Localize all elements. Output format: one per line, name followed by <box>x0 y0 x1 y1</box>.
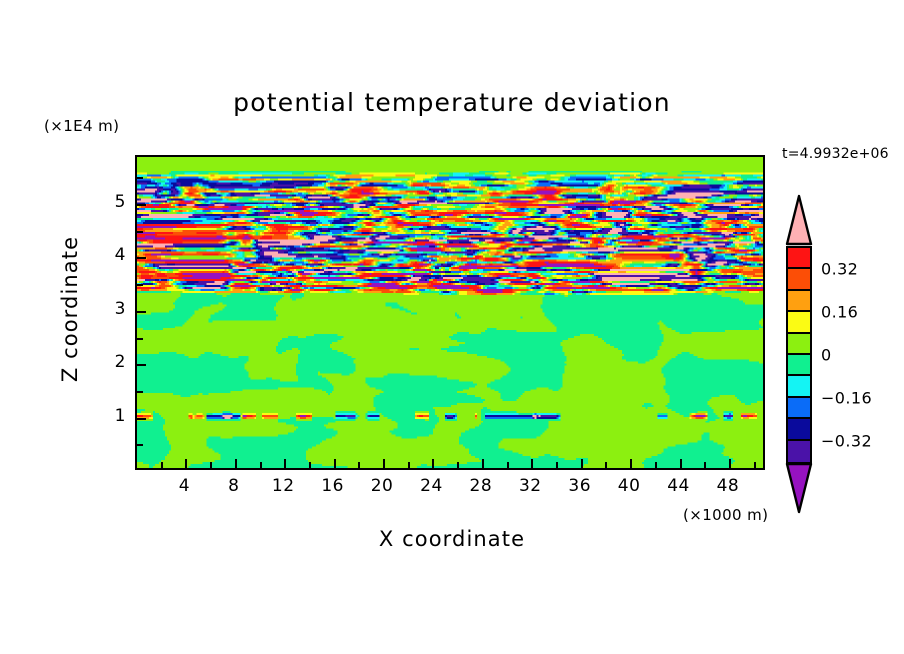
plot-area <box>135 155 765 470</box>
x-axis-minor-tick <box>210 462 212 468</box>
y-axis-minor-tick <box>137 338 143 340</box>
x-axis-tick-label: 36 <box>558 476 602 496</box>
x-axis-tick-label: 48 <box>706 476 750 496</box>
x-axis-minor-tick <box>704 462 706 468</box>
y-axis-tick-label: 2 <box>86 352 126 372</box>
colorbar-bands <box>786 246 812 464</box>
colorbar-band <box>788 355 810 376</box>
y-axis-tick <box>137 364 146 366</box>
x-axis-tick <box>235 459 237 468</box>
y-axis-minor-tick <box>137 444 143 446</box>
y-axis-tick-label: 4 <box>86 245 126 265</box>
x-axis-tick-label: 24 <box>409 476 453 496</box>
colorbar: 0.320.160−0.16−0.32 <box>783 196 817 514</box>
x-axis-minor-tick <box>260 462 262 468</box>
contour-field-canvas <box>137 157 763 468</box>
x-axis-minor-tick <box>507 462 509 468</box>
colorbar-bottom-cap-icon <box>786 462 812 514</box>
y-axis-tick <box>137 204 146 206</box>
x-axis-minor-tick <box>309 462 311 468</box>
y-axis-tick <box>137 257 146 259</box>
x-axis-tick-label: 16 <box>311 476 355 496</box>
colorbar-band <box>788 248 810 269</box>
y-axis-tick <box>137 311 146 313</box>
x-axis-tick-label: 12 <box>261 476 305 496</box>
x-axis-minor-tick <box>457 462 459 468</box>
x-axis-tick-label: 44 <box>657 476 701 496</box>
contour-plot-figure: potential temperature deviation (×1E4 m)… <box>0 0 904 654</box>
colorbar-band <box>788 312 810 333</box>
y-axis-minor-tick <box>137 284 143 286</box>
y-axis-minor-tick <box>137 231 143 233</box>
time-annotation: t=4.9932e+06 <box>782 146 889 162</box>
y-axis-tick-label: 5 <box>86 192 126 212</box>
colorbar-tick-label: −0.32 <box>821 431 872 450</box>
y-axis-minor-tick <box>137 391 143 393</box>
x-axis-tick <box>482 459 484 468</box>
x-axis-tick-label: 40 <box>607 476 651 496</box>
x-axis-tick <box>185 459 187 468</box>
x-axis-minor-tick <box>161 462 163 468</box>
x-axis-minor-tick <box>655 462 657 468</box>
colorbar-band <box>788 376 810 397</box>
x-axis-tick <box>284 459 286 468</box>
x-axis-tick <box>432 459 434 468</box>
x-axis-tick <box>531 459 533 468</box>
page-title: potential temperature deviation <box>0 88 904 117</box>
x-axis-tick <box>680 459 682 468</box>
x-axis-tick <box>729 459 731 468</box>
x-axis-minor-tick <box>605 462 607 468</box>
x-axis-units-label: (×1000 m) <box>683 506 768 524</box>
x-axis-minor-tick <box>358 462 360 468</box>
x-axis-minor-tick <box>408 462 410 468</box>
x-axis-title: X coordinate <box>0 527 904 551</box>
y-axis-units-label: (×1E4 m) <box>44 117 119 135</box>
colorbar-tick-label: 0 <box>821 346 832 365</box>
x-axis-tick-label: 28 <box>459 476 503 496</box>
colorbar-tick-label: −0.16 <box>821 388 872 407</box>
x-axis-minor-tick <box>556 462 558 468</box>
x-axis-minor-tick <box>754 462 756 468</box>
x-axis-tick <box>630 459 632 468</box>
colorbar-band <box>788 291 810 312</box>
x-axis-tick-label: 4 <box>162 476 206 496</box>
y-axis-tick <box>137 418 146 420</box>
x-axis-tick-label: 20 <box>360 476 404 496</box>
y-axis-title: Z coordinate <box>58 209 82 409</box>
x-axis-tick <box>334 459 336 468</box>
x-axis-tick-label: 8 <box>212 476 256 496</box>
x-axis-tick-label: 32 <box>508 476 552 496</box>
colorbar-tick-label: 0.32 <box>821 260 858 279</box>
y-axis-tick-label: 1 <box>86 406 126 426</box>
y-axis-minor-tick <box>137 177 143 179</box>
colorbar-band <box>788 269 810 290</box>
colorbar-band <box>788 398 810 419</box>
colorbar-band <box>788 441 810 462</box>
colorbar-band <box>788 419 810 440</box>
colorbar-band <box>788 334 810 355</box>
y-axis-tick-label: 3 <box>86 299 126 319</box>
x-axis-tick <box>383 459 385 468</box>
x-axis-tick <box>581 459 583 468</box>
colorbar-top-cap-icon <box>786 194 812 246</box>
colorbar-tick-label: 0.16 <box>821 303 858 322</box>
